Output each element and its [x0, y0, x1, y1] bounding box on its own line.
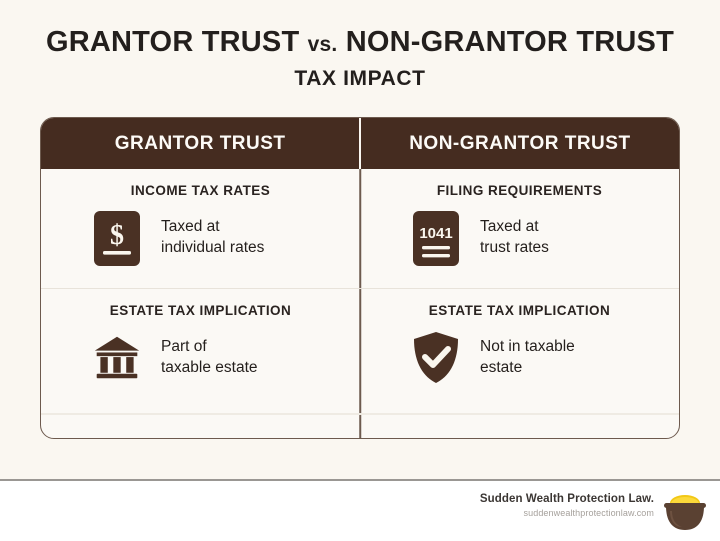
- comparison-card: GRANTOR TRUST NON-GRANTOR TRUST INCOME T…: [40, 117, 680, 439]
- row-estate-tax-implication-non-grantor: ESTATE TAX IMPLICATION Not in taxable es…: [360, 289, 679, 409]
- page-title: GRANTOR TRUST vs. NON-GRANTOR TRUST: [0, 26, 720, 58]
- comparison-card-header: GRANTOR TRUST NON-GRANTOR TRUST: [41, 118, 679, 169]
- dollar-document-icon: $: [93, 210, 141, 266]
- row-bottom-rule-right: [41, 413, 679, 415]
- column-grantor-trust: INCOME TAX RATES $ Taxed at individual r…: [41, 169, 360, 438]
- form-1041-icon-label: 1041: [419, 225, 452, 242]
- row-content-filing-requirements: 1041 Taxed at trust rates: [378, 210, 661, 266]
- page-subtitle: TAX IMPACT: [0, 67, 720, 91]
- bank-building-icon: [93, 330, 141, 386]
- column-non-grantor-trust: FILING REQUIREMENTS 1041 Taxed at trust …: [360, 169, 679, 438]
- shield-check-icon: [412, 330, 460, 386]
- row-text-income-tax-rates: Taxed at individual rates: [161, 217, 264, 259]
- row-estate-tax-implication-grantor: ESTATE TAX IMPLICATION: [41, 289, 360, 409]
- column-header-non-grantor-trust: NON-GRANTOR TRUST: [361, 118, 679, 169]
- row-text-filing-requirements: Taxed at trust rates: [480, 217, 549, 259]
- row-label-estate-tax-implication-non-grantor: ESTATE TAX IMPLICATION: [378, 303, 661, 318]
- row-content-estate-tax-implication-non-grantor: Not in taxable estate: [378, 330, 661, 386]
- row-label-income-tax-rates: INCOME TAX RATES: [59, 183, 342, 198]
- infographic-canvas: GRANTOR TRUST vs. NON-GRANTOR TRUST TAX …: [0, 0, 720, 481]
- row-text-estate-tax-implication-grantor: Part of taxable estate: [161, 337, 258, 379]
- row-income-tax-rates: INCOME TAX RATES $ Taxed at individual r…: [41, 169, 360, 289]
- form-1041-icon: 1041: [412, 210, 460, 266]
- title-vs-separator: vs.: [308, 33, 338, 56]
- row-content-income-tax-rates: $ Taxed at individual rates: [59, 210, 342, 266]
- brand-name: Sudden Wealth Protection Law.: [480, 493, 654, 505]
- row-label-filing-requirements: FILING REQUIREMENTS: [378, 183, 661, 198]
- brand-url: suddenwealthprotectionlaw.com: [480, 508, 654, 518]
- title-block: GRANTOR TRUST vs. NON-GRANTOR TRUST TAX …: [0, 26, 720, 91]
- title-right-term: NON-GRANTOR TRUST: [346, 26, 674, 58]
- column-header-grantor-trust: GRANTOR TRUST: [41, 118, 359, 169]
- row-filing-requirements: FILING REQUIREMENTS 1041 Taxed at trust …: [360, 169, 679, 289]
- footer: Sudden Wealth Protection Law. suddenweal…: [0, 481, 720, 541]
- row-label-estate-tax-implication-grantor: ESTATE TAX IMPLICATION: [59, 303, 342, 318]
- brand-block: Sudden Wealth Protection Law. suddenweal…: [480, 493, 654, 518]
- svg-text:$: $: [110, 220, 124, 251]
- row-text-estate-tax-implication-non-grantor: Not in taxable estate: [480, 337, 575, 379]
- title-left-term: GRANTOR TRUST: [46, 26, 299, 58]
- row-content-estate-tax-implication-grantor: Part of taxable estate: [59, 330, 342, 386]
- pot-of-gold-logo: [662, 489, 708, 533]
- comparison-card-body: INCOME TAX RATES $ Taxed at individual r…: [41, 169, 679, 438]
